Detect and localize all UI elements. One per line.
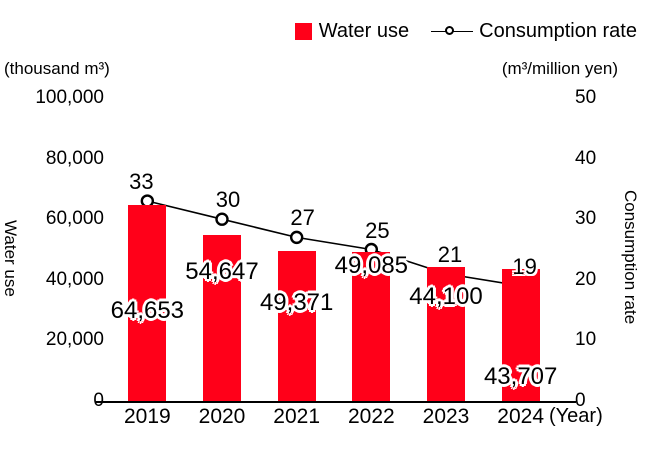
point-value-label-2019: 33: [129, 169, 153, 195]
line-marker-icon: [431, 23, 473, 40]
x-axis-line: [96, 401, 576, 403]
bar-value-label-2019: 64,653: [111, 297, 184, 325]
left-tick-label: 60,000: [46, 209, 104, 228]
right-tick-label: 20: [575, 270, 596, 289]
plot-area: [110, 98, 558, 401]
water-use-consumption-rate-chart: Water use Consumption rate (thousand m³)…: [0, 0, 645, 462]
left-tick-label: 80,000: [46, 149, 104, 168]
x-axis-label-2022: 2022: [348, 405, 395, 429]
red-square-icon: [295, 23, 312, 40]
bar-value-label-2022: 49,085: [335, 252, 408, 280]
x-axis-label-2020: 2020: [199, 405, 246, 429]
consumption-rate-line: [110, 98, 558, 401]
line-marker-2021: [291, 232, 302, 243]
line-marker-2020: [217, 214, 228, 225]
left-tick-label: 100,000: [35, 88, 104, 107]
legend-item-water-use: Water use: [295, 20, 409, 43]
point-value-label-2022: 25: [365, 218, 389, 244]
x-axis-label-2021: 2021: [273, 405, 320, 429]
bar-value-label-2024: 43,707: [484, 363, 557, 391]
bar-value-label-2023: 44,100: [409, 283, 482, 311]
bar-value-label-2020: 54,647: [185, 258, 258, 286]
point-value-label-2021: 27: [290, 205, 314, 231]
x-axis-unit: (Year): [549, 405, 603, 428]
right-tick-label: 40: [575, 149, 596, 168]
x-axis-label-2023: 2023: [423, 405, 470, 429]
right-tick-label: 30: [575, 209, 596, 228]
right-tick-label: 50: [575, 88, 596, 107]
point-value-label-2020: 30: [216, 187, 240, 213]
bar-2021: [278, 251, 316, 401]
point-value-label-2024: 19: [512, 254, 536, 280]
right-axis-ticks: 01020304050: [575, 0, 615, 462]
point-value-label-2023: 21: [438, 242, 462, 268]
bar-value-label-2021: 49,371: [260, 289, 333, 317]
left-axis-ticks: 020,00040,00060,00080,000100,000: [0, 0, 104, 462]
legend-label-water-use: Water use: [319, 20, 409, 43]
x-axis-label-2024: 2024: [497, 405, 544, 429]
left-tick-label: 40,000: [46, 270, 104, 289]
x-axis-label-2019: 2019: [124, 405, 171, 429]
right-tick-label: 10: [575, 330, 596, 349]
right-axis-title: Consumption rate: [620, 190, 640, 320]
left-tick-label: 20,000: [46, 330, 104, 349]
